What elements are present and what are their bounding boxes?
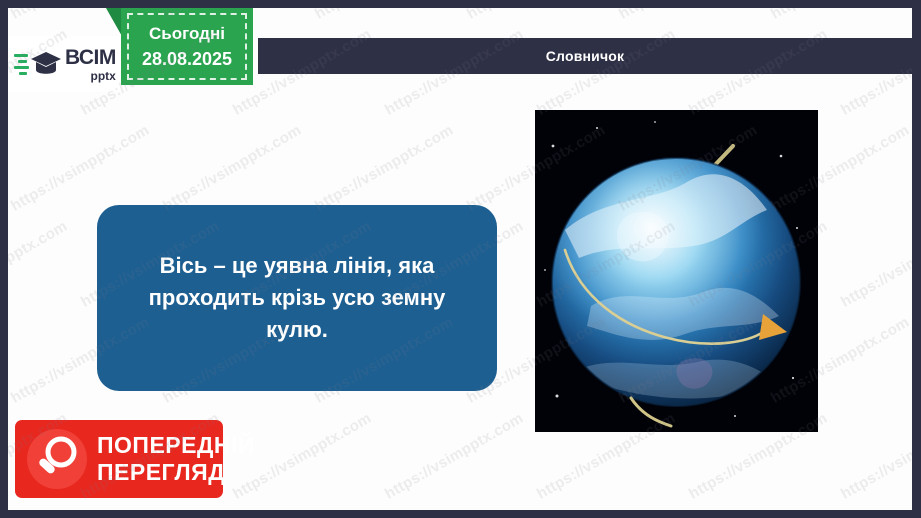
watermark-text: https://vsimpptx.com: [8, 506, 152, 510]
definition-card: Вісь – це уявна лінія, яка проходить крі…: [97, 205, 497, 391]
slide-header-bar: Словничок: [258, 38, 912, 74]
watermark-text: https://vsimpptx.com: [312, 122, 456, 215]
frame-border-left: [0, 0, 8, 518]
date-badge: Сьогодні 28.08.2025: [121, 8, 253, 85]
watermark-text: https://vsimpptx.com: [312, 8, 456, 23]
brand-logo: ВСІМ pptx: [8, 36, 120, 92]
preview-badge-line2: ПЕРЕГЛЯД: [97, 461, 255, 484]
logo-sub-text: pptx: [65, 70, 116, 82]
slide-content-area: Словничок Вісь – це уявна лінія, яка про…: [8, 8, 912, 510]
watermark-text: https://vsimpptx.com: [382, 410, 526, 503]
frame-border-right: [912, 0, 921, 518]
definition-text: Вісь – це уявна лінія, яка проходить крі…: [97, 250, 497, 346]
watermark-text: https://vsimpptx.com: [8, 122, 152, 215]
watermark-text: https://vsimpptx.com: [464, 8, 608, 23]
magnifier-icon: [27, 429, 87, 489]
speed-lines-icon: [14, 54, 29, 75]
earth-illustration: [535, 110, 818, 432]
page-title: Словничок: [546, 48, 625, 64]
date-value: 28.08.2025: [142, 49, 232, 70]
slide-canvas: Словничок Вісь – це уявна лінія, яка про…: [0, 0, 921, 518]
watermark-text: https://vsimpptx.com: [160, 506, 304, 510]
watermark-text: https://vsimpptx.com: [160, 122, 304, 215]
frame-border-bottom: [0, 510, 921, 518]
watermark-text: https://vsimpptx.com: [464, 506, 608, 510]
watermark-text: https://vsimpptx.com: [768, 506, 912, 510]
logo-brand-text: ВСІМ: [65, 47, 116, 68]
frame-border-top: [0, 0, 921, 8]
preview-badge-line1: ПОПЕРЕДНІЙ: [97, 434, 255, 457]
watermark-text: https://vsimpptx.com: [838, 410, 912, 503]
earth-globe-graphic: [535, 110, 818, 432]
watermark-text: https://vsimpptx.com: [616, 8, 760, 23]
watermark-text: https://vsimpptx.com: [8, 218, 70, 311]
watermark-text: https://vsimpptx.com: [616, 506, 760, 510]
date-label: Сьогодні: [149, 24, 225, 44]
graduation-cap-icon: [30, 49, 62, 79]
watermark-text: https://vsimpptx.com: [312, 506, 456, 510]
preview-badge: ПОПЕРЕДНІЙ ПЕРЕГЛЯД: [15, 420, 223, 498]
watermark-text: https://vsimpptx.com: [768, 8, 912, 23]
watermark-text: https://vsimpptx.com: [838, 218, 912, 311]
